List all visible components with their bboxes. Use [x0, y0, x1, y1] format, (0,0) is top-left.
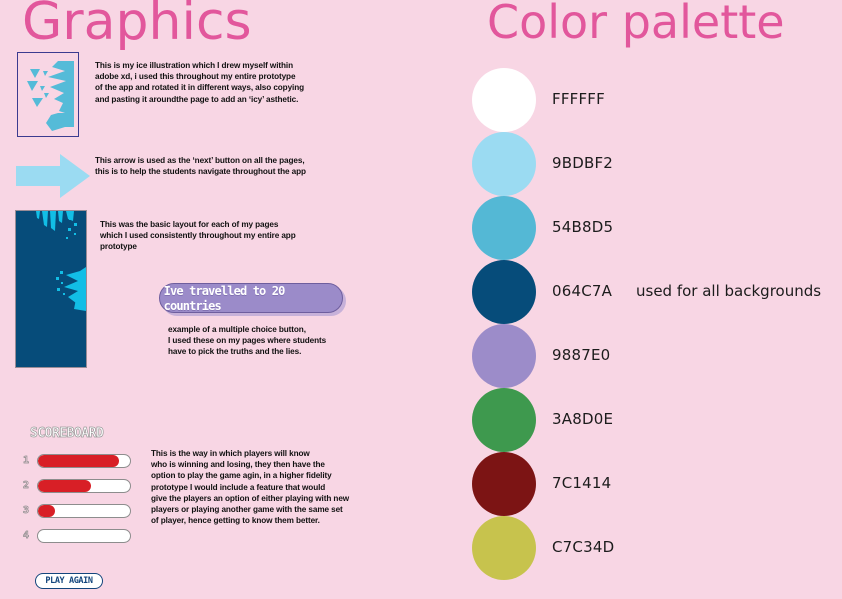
color-usage-note: used for all backgrounds [636, 282, 821, 300]
scoreboard-progress-bar [37, 454, 131, 468]
color-swatch[interactable] [472, 68, 536, 132]
scoreboard-rank: 2 [20, 480, 32, 491]
scoreboard-row: 1 [20, 454, 140, 470]
ice-illustration-frame [17, 52, 79, 137]
scoreboard-row: 3 [20, 504, 140, 520]
palette-row: 9887E0 [472, 324, 842, 388]
ice-illustration-icon [18, 53, 78, 135]
page-layout-caption: This was the basic layout for each of my… [100, 219, 350, 253]
scoreboard-progress-bar [37, 529, 131, 543]
scoreboard-rank: 1 [20, 455, 32, 466]
multiple-choice-caption: example of a multiple choice button, I u… [168, 324, 398, 358]
ice-accent-icon [16, 211, 86, 367]
scoreboard-caption: This is the way in which players will kn… [151, 448, 391, 526]
play-again-label: PLAY AGAIN [45, 576, 92, 586]
color-hex-label: 9BDBF2 [552, 154, 613, 172]
color-hex-label: 9887E0 [552, 346, 610, 364]
color-swatch[interactable] [472, 388, 536, 452]
right-arrow-icon [8, 187, 92, 204]
scoreboard-rank: 4 [20, 530, 32, 541]
palette-row: 064C7Aused for all backgrounds [472, 260, 842, 324]
palette-row: 9BDBF2 [472, 132, 842, 196]
scoreboard-rank: 3 [20, 505, 32, 516]
color-hex-label: 7C1414 [552, 474, 611, 492]
scoreboard-row: 4 [20, 529, 140, 545]
color-swatch[interactable] [472, 260, 536, 324]
multiple-choice-button-label: Ive travelled to 20 countries [164, 283, 339, 313]
color-hex-label: C7C34D [552, 538, 614, 556]
ice-illustration-caption: This is my ice illustration which I drew… [95, 60, 340, 105]
color-hex-label: 3A8D0E [552, 410, 613, 428]
color-hex-label: 064C7A [552, 282, 612, 300]
palette-row: 3A8D0E [472, 388, 842, 452]
color-hex-label: 54B8D5 [552, 218, 613, 236]
scoreboard-row: 2 [20, 479, 140, 495]
color-swatch[interactable] [472, 516, 536, 580]
color-palette-list: FFFFFF9BDBF254B8D5064C7Aused for all bac… [472, 68, 842, 580]
palette-row: 7C1414 [472, 452, 842, 516]
scoreboard-title: SCOREBOARD [30, 426, 103, 442]
multiple-choice-button[interactable]: Ive travelled to 20 countries [159, 283, 343, 313]
color-swatch[interactable] [472, 132, 536, 196]
next-arrow-caption: This arrow is used as the ‘next’ button … [95, 155, 345, 177]
play-again-button[interactable]: PLAY AGAIN [35, 573, 103, 589]
page-title-color-palette: Color palette [487, 0, 785, 48]
color-hex-label: FFFFFF [552, 90, 605, 108]
color-swatch[interactable] [472, 196, 536, 260]
scoreboard-progress-bar [37, 479, 131, 493]
scoreboard-mock: SCOREBOARD 1 2 3 4 PLAY AGAI [20, 426, 140, 586]
color-swatch[interactable] [472, 324, 536, 388]
scoreboard-progress-bar [37, 504, 131, 518]
graphics-and-palette-board: Graphics This is my ice illustration whi… [0, 0, 842, 599]
page-layout-thumbnail [15, 210, 87, 368]
palette-row: 54B8D5 [472, 196, 842, 260]
palette-row: FFFFFF [472, 68, 842, 132]
palette-row: C7C34D [472, 516, 842, 580]
next-arrow-graphic [8, 152, 92, 200]
color-swatch[interactable] [472, 452, 536, 516]
page-title-graphics: Graphics [22, 0, 252, 50]
